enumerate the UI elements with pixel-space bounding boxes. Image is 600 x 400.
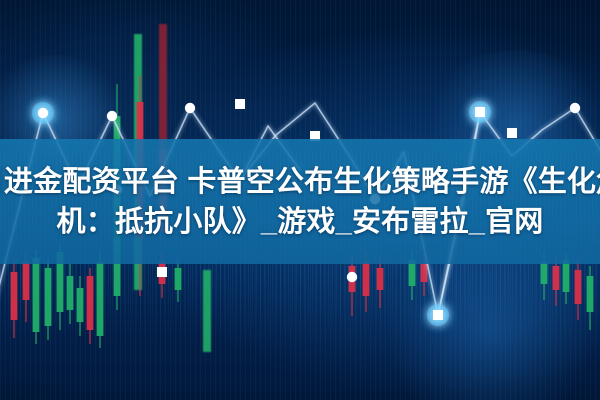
banner-image: 日进金配资平台 卡普空公布生化策略手游《生化危 机：抵抗小队》_游戏_安布雷拉_…	[0, 0, 600, 400]
title-line-2: 机：抵抗小队》_游戏_安布雷拉_官网	[57, 202, 544, 242]
title-container: 日进金配资平台 卡普空公布生化策略手游《生化危 机：抵抗小队》_游戏_安布雷拉_…	[0, 139, 600, 264]
title-line-1: 日进金配资平台 卡普空公布生化策略手游《生化危	[0, 162, 600, 202]
